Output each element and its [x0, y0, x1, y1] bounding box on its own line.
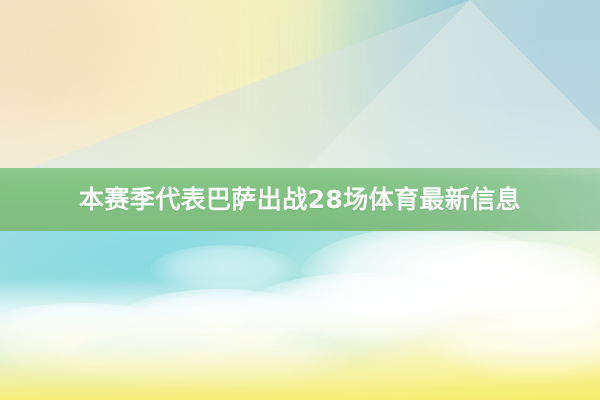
yellow-sky-wash — [0, 231, 600, 400]
banner-image: 本赛季代表巴萨出战28场体育最新信息 — [0, 0, 600, 400]
sky-artwork — [0, 231, 600, 400]
headline-band: 本赛季代表巴萨出战28场体育最新信息 — [0, 168, 600, 231]
headline-text: 本赛季代表巴萨出战28场体育最新信息 — [79, 187, 521, 212]
